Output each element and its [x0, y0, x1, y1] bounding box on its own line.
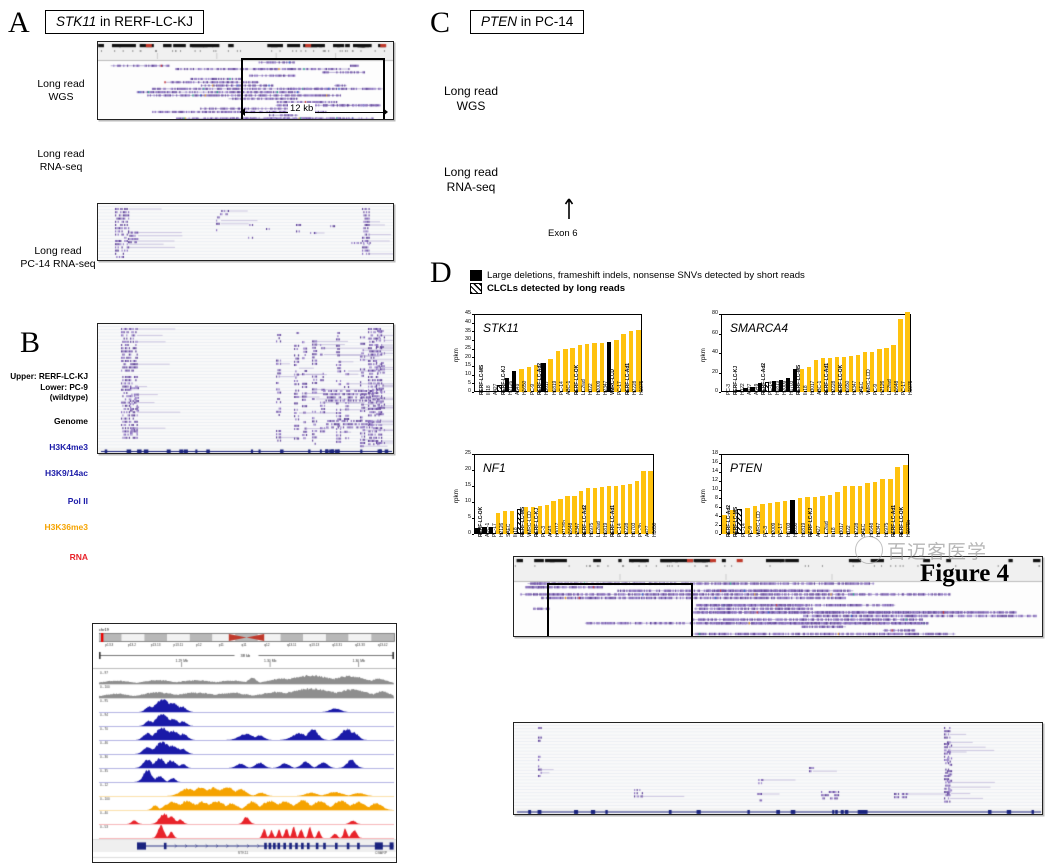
chart-pten[interactable]: rpkm024681012141618PTENRERF-LC-Ad2RERF-L… [697, 452, 912, 595]
y-axis-tick: 5 [458, 515, 471, 520]
y-axis-tick: 0 [458, 389, 471, 394]
panel-c-exon-label: Exon 6 [548, 228, 578, 239]
chart-title: SMARCA4 [730, 321, 788, 335]
legend-item-long-reads: CLCLs detected by long reads [470, 283, 805, 294]
y-axis-tick: 5 [458, 381, 471, 386]
y-axis-tickmark [472, 392, 474, 393]
y-axis-tickmark [472, 534, 474, 535]
y-axis-tick: 10 [458, 499, 471, 504]
y-axis-tick: 20 [458, 355, 471, 360]
panel-b-label-pol2: Pol II [20, 496, 88, 506]
legend-item-short-reads: Large deletions, frameshift indels, nons… [470, 270, 805, 281]
legend-swatch-hatch-icon [470, 283, 482, 294]
chart-smarca4[interactable]: rpkm020406080SMARCA4PC-3RERF-LC-KJH322A4… [697, 312, 917, 447]
panel-b-genome-browser[interactable] [92, 623, 397, 863]
y-axis-tick: 6 [705, 505, 718, 510]
y-axis-tick: 0 [705, 389, 718, 394]
chart-title: PTEN [730, 461, 762, 475]
panel-a-scalebar: 12 kb [240, 103, 388, 121]
x-axis-tick-label: PC-3 [727, 384, 732, 395]
panel-b-label-h3k9-14ac: H3K9/14ac [16, 468, 88, 478]
chart-title: STK11 [483, 321, 519, 335]
panel-a-label-wgs: Long read WGS [25, 78, 97, 104]
x-axis-tick-label: H1975 [909, 381, 914, 395]
y-axis-tick: 35 [458, 329, 471, 334]
panel-letter-b: B [20, 328, 40, 358]
panel-d-legend: Large deletions, frameshift indels, nons… [470, 270, 805, 296]
y-axis-tick: 20 [458, 467, 471, 472]
panel-c-gene-name: PTEN [481, 14, 517, 29]
y-axis-tick: 4 [705, 514, 718, 519]
panel-a-title-rest: in RERF-LC-KJ [96, 14, 193, 29]
legend-swatch-black-icon [470, 270, 482, 281]
watermark-badge-icon [855, 536, 883, 564]
chart-title: NF1 [483, 461, 506, 475]
y-axis-tick: 12 [705, 478, 718, 483]
y-axis-tick: 20 [705, 370, 718, 375]
panel-a-gene-name: STK11 [56, 14, 96, 29]
y-axis-tick: 16 [705, 460, 718, 465]
panel-b-label-h3k36me3: H3K36me3 [14, 522, 88, 532]
y-axis-tick: 0 [458, 531, 471, 536]
y-axis-tick: 25 [458, 346, 471, 351]
panel-a-scalebar-label: 12 kb [288, 103, 315, 114]
chart-stk11[interactable]: rpkm051015202530354045STK11RERF-LC-MSII-… [452, 312, 647, 447]
figure-caption: Figure 4 [920, 560, 1009, 588]
panel-c-label-wgs: Long read WGS [432, 84, 510, 114]
y-axis-tick: 18 [705, 451, 718, 456]
panel-b-label-h3k4me3: H3K4me3 [20, 442, 88, 452]
panel-b-legend-upper: Upper: RERF-LC-KJ [2, 372, 88, 382]
y-axis-tick: 40 [705, 350, 718, 355]
panel-a-pc14-track[interactable] [97, 323, 394, 454]
x-axis-tick-label: H1975b [907, 520, 912, 537]
panel-c-title-rest: in PC-14 [517, 14, 573, 29]
panel-b-label-genome: Genome [20, 416, 88, 426]
panel-letter-c: C [430, 8, 450, 38]
y-axis-tick: 14 [705, 469, 718, 474]
legend-label-short-reads: Large deletions, frameshift indels, nons… [487, 270, 805, 281]
bar[interactable] [641, 471, 645, 534]
y-axis-tick: 15 [458, 483, 471, 488]
y-axis-tick: 60 [705, 331, 718, 336]
y-axis-tick: 30 [458, 337, 471, 342]
panel-c-title-box: PTEN in PC-14 [470, 10, 584, 34]
x-axis-tick-label: H1975 [640, 381, 645, 395]
y-axis-tick: 80 [705, 311, 718, 316]
legend-label-long-reads: CLCLs detected by long reads [487, 283, 625, 294]
panel-letter-a: A [8, 8, 30, 38]
panel-a-label-pc14: Long read PC-14 RNA-seq [17, 245, 99, 271]
y-axis-tick: 10 [705, 487, 718, 492]
y-axis-tick: 0 [705, 531, 718, 536]
x-axis-tick-label: H1650 [653, 523, 658, 537]
panel-letter-d: D [430, 258, 452, 288]
panel-c-label-rnaseq: Long read RNA-seq [432, 165, 510, 195]
y-axis-tick: 15 [458, 363, 471, 368]
chart-nf1[interactable]: rpkm0510152025NF1RERF-LC-OKABC-1PC-17H21… [452, 452, 657, 595]
panel-a-title-box: STK11 in RERF-LC-KJ [45, 10, 204, 34]
y-axis-tick: 45 [458, 311, 471, 316]
y-axis-tick: 8 [705, 496, 718, 501]
y-axis-tick: 2 [705, 523, 718, 528]
panel-b-label-rna: RNA [20, 552, 88, 562]
panel-b-legend-lower: Lower: PC-9 (wildtype) [2, 383, 88, 404]
panel-a-rnaseq-track[interactable] [97, 203, 394, 261]
y-axis-tickmark [719, 534, 721, 535]
exon6-arrow-icon [564, 198, 574, 220]
y-axis-tick: 40 [458, 320, 471, 325]
y-axis-tickmark [719, 392, 721, 393]
y-axis-tick: 10 [458, 372, 471, 377]
panel-c-rnaseq-track[interactable] [513, 722, 1043, 815]
y-axis-tick: 25 [458, 451, 471, 456]
panel-a-label-rnaseq: Long read RNA-seq [25, 148, 97, 174]
